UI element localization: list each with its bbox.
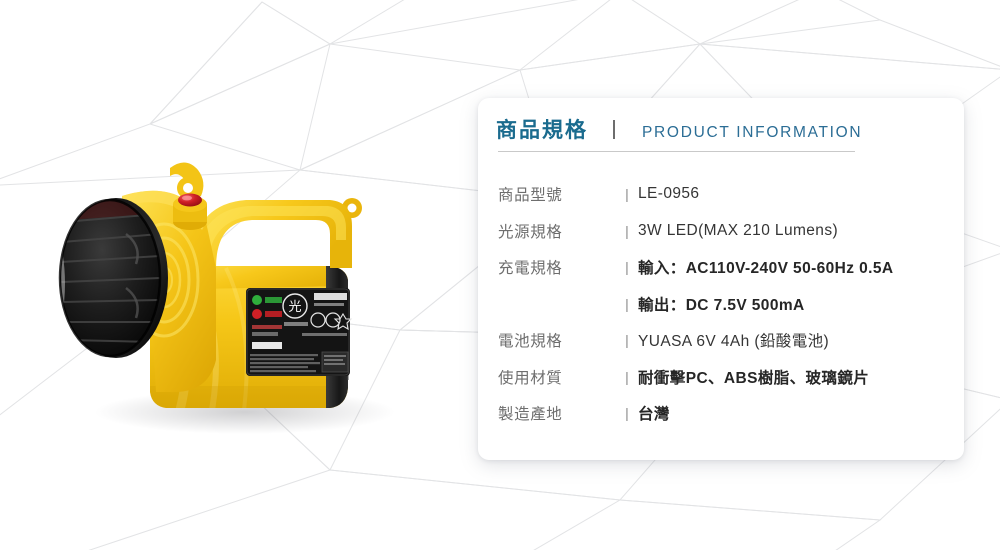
carry-handle xyxy=(190,200,352,268)
table-row: 商品型號 | LE-0956 xyxy=(478,176,964,213)
spec-value: 3W LED(MAX 210 Lumens) xyxy=(638,222,838,240)
spec-label: 製造產地 xyxy=(498,402,616,424)
row-separator: | xyxy=(616,297,638,311)
table-row: 製造產地 | 台灣 xyxy=(478,395,964,432)
card-header: 商品規格 PRODUCT INFORMATION xyxy=(496,118,946,152)
spec-table: 商品型號 | LE-0956 光源規格 | 3W LED(MAX 210 Lum… xyxy=(478,176,964,432)
row-separator: | xyxy=(616,187,638,201)
table-row: | 輸出：DC 7.5V 500mA xyxy=(478,286,964,323)
power-button xyxy=(173,194,207,231)
product-information-card: 商品規格 PRODUCT INFORMATION 商品型號 | LE-0956 … xyxy=(478,98,964,460)
page-subtitle: PRODUCT INFORMATION xyxy=(642,125,862,141)
spec-label: 電池規格 xyxy=(498,329,616,351)
spec-label: 光源規格 xyxy=(498,220,616,242)
spec-value: 輸出：DC 7.5V 500mA xyxy=(638,293,805,315)
header-underline xyxy=(498,151,855,152)
page-title: 商品規格 xyxy=(496,120,588,141)
row-separator: | xyxy=(616,370,638,384)
product-label-sticker: 光 xyxy=(246,288,351,376)
spec-value: LE-0956 xyxy=(638,185,699,203)
product-image: 光 xyxy=(30,130,460,440)
spec-label: 充電規格 xyxy=(498,256,616,278)
table-row: 電池規格 | YUASA 6V 4Ah (鉛酸電池) xyxy=(478,322,964,359)
spec-value: 耐衝擊PC、ABS樹脂、玻璃鏡片 xyxy=(638,366,869,388)
red-button-cap xyxy=(178,194,202,207)
header-divider xyxy=(613,120,615,139)
svg-text:光: 光 xyxy=(288,300,301,315)
spec-value: YUASA 6V 4Ah (鉛酸電池) xyxy=(638,329,829,351)
table-row: 充電規格 | 輸入：AC110V-240V 50-60Hz 0.5A xyxy=(478,249,964,286)
spec-value: 台灣 xyxy=(638,402,670,424)
spec-value: 輸入：AC110V-240V 50-60Hz 0.5A xyxy=(638,256,893,278)
table-row: 使用材質 | 耐衝擊PC、ABS樹脂、玻璃鏡片 xyxy=(478,359,964,396)
row-separator: | xyxy=(616,224,638,238)
spec-label: 商品型號 xyxy=(498,183,616,205)
table-row: 光源規格 | 3W LED(MAX 210 Lumens) xyxy=(478,213,964,250)
hang-loop-front xyxy=(170,162,203,199)
row-separator: | xyxy=(616,406,638,420)
row-separator: | xyxy=(616,333,638,347)
lens-bezel xyxy=(60,198,168,358)
spec-label: 使用材質 xyxy=(498,366,616,388)
row-separator: | xyxy=(616,260,638,274)
